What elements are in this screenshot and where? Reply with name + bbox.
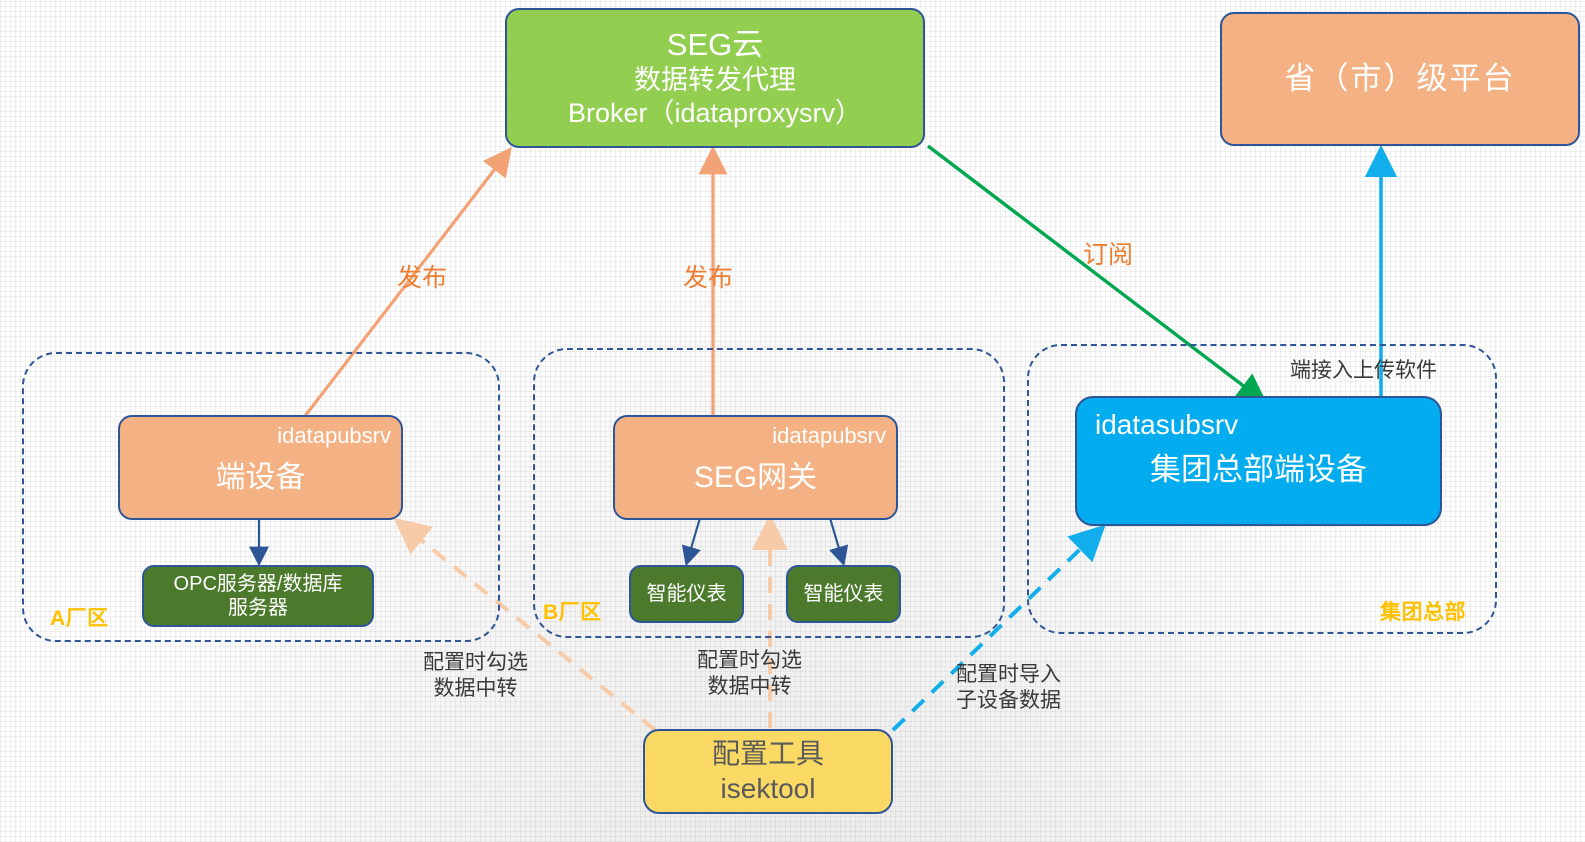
node-opc-server[interactable]: OPC服务器/数据库 服务器 (142, 565, 374, 627)
node-opc-server-line-2: 服务器 (228, 596, 288, 620)
node-config-tool-line-1: 配置工具 (712, 737, 824, 771)
edge-label-config-import: 配置时导入 子设备数据 (956, 662, 1061, 715)
edge-label-publish-b: 发布 (683, 263, 733, 295)
node-province-platform-label: 省（市）级平台 (1285, 60, 1516, 98)
node-seg-cloud-line-1: SEG云 (667, 26, 763, 64)
node-smart-meter-2-label: 智能仪表 (804, 582, 884, 606)
node-seg-cloud-line-3: Broker（idataproxysrv） (568, 97, 862, 130)
region-plant-a-label: A厂区 (50, 602, 109, 632)
node-seg-gateway-label: SEG网关 (694, 460, 817, 497)
node-seg-cloud-line-2: 数据转发代理 (634, 64, 796, 97)
node-opc-server-line-1: OPC服务器/数据库 (174, 572, 343, 596)
diagram-canvas: A厂区 B厂区 集团总部 SEG云 数据转发代理 Broker（idatapro… (0, 0, 1585, 842)
edge-label-publish-a: 发布 (397, 263, 447, 295)
node-hq-end-device-label: 集团总部端设备 (1077, 451, 1440, 489)
node-seg-gateway-service-tag: idatapubsrv (772, 423, 886, 450)
node-province-platform[interactable]: 省（市）级平台 (1220, 12, 1580, 146)
node-hq-end-device-service-tag: idatasubsrv (1095, 408, 1238, 442)
edge-label-subscribe: 订阅 (1083, 240, 1133, 272)
edge-label-upload-software: 端接入上传软件 (1290, 358, 1437, 384)
region-plant-b-label: B厂区 (543, 596, 602, 626)
node-smart-meter-1-label: 智能仪表 (647, 582, 727, 606)
node-end-device-service-tag: idatapubsrv (277, 423, 391, 450)
node-seg-gateway[interactable]: idatapubsrv SEG网关 (613, 415, 898, 520)
node-end-device[interactable]: idatapubsrv 端设备 (118, 415, 403, 520)
node-seg-cloud[interactable]: SEG云 数据转发代理 Broker（idataproxysrv） (505, 8, 925, 148)
edge-label-config-relay-a: 配置时勾选 数据中转 (423, 650, 528, 703)
node-config-tool-line-2: isektool (721, 772, 816, 806)
node-end-device-label: 端设备 (216, 460, 306, 497)
edge-label-config-relay-b: 配置时勾选 数据中转 (697, 648, 802, 701)
region-headquarters-label: 集团总部 (1380, 596, 1466, 626)
node-smart-meter-1[interactable]: 智能仪表 (629, 565, 744, 623)
node-hq-end-device[interactable]: idatasubsrv 集团总部端设备 (1075, 396, 1442, 526)
node-config-tool[interactable]: 配置工具 isektool (643, 729, 893, 814)
node-smart-meter-2[interactable]: 智能仪表 (786, 565, 901, 623)
